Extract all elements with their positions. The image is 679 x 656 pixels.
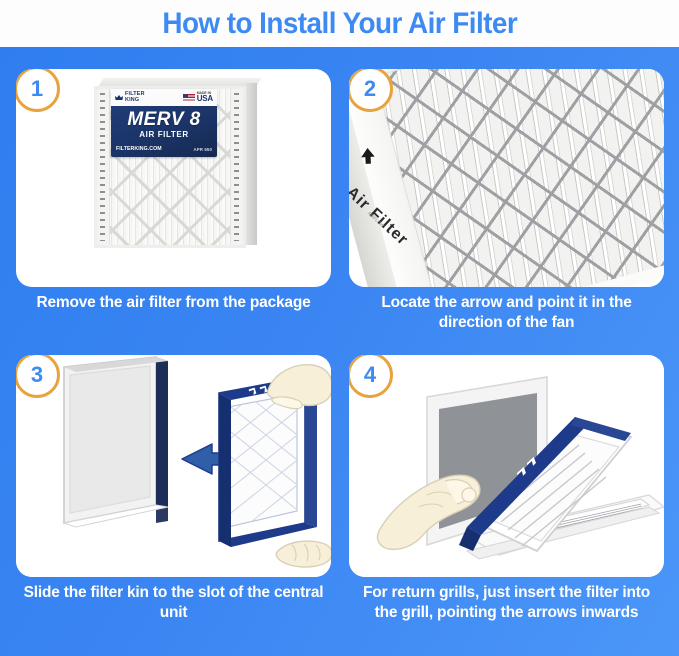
header-bar: How to Install Your Air Filter (0, 0, 679, 47)
hand-lower (276, 541, 331, 567)
product-type: AIR FILTER (111, 130, 217, 139)
made-in-usa-badge: MADE IN USA (183, 92, 213, 103)
brand-name: FILTER KING (125, 92, 145, 103)
slide-diagram (16, 355, 331, 577)
hand-upper (267, 365, 331, 409)
step-2-image-card: Air Filter AIRFLOW 2 (349, 69, 664, 287)
step-4-image-card: 4 (349, 355, 664, 577)
airflow-arrow-icon (358, 147, 377, 166)
apr-text: APR 650 (193, 147, 212, 152)
step-card-3: 3 Slide the filter kin to the slot of th… (16, 355, 331, 651)
page-title: How to Install Your Air Filter (162, 7, 517, 41)
central-unit (64, 357, 168, 527)
step-caption-4: For return grills, just insert the filte… (349, 583, 664, 624)
step-card-1: FILTER KING MADE IN USA (16, 69, 331, 359)
merv8-filter-photo: FILTER KING MADE IN USA (16, 69, 331, 287)
crown-icon (115, 94, 123, 102)
merv-rating: MERV 8 (111, 110, 217, 129)
return-grill-diagram (349, 355, 664, 577)
step-caption-3: Slide the filter kin to the slot of the … (16, 583, 331, 624)
slide-filter-into-slot-illustration (16, 355, 331, 577)
filter-product-label: FILTER KING MADE IN USA (111, 89, 217, 157)
step-card-2: Air Filter AIRFLOW 2 Locate the arrow an… (349, 69, 664, 359)
filter-corner-arrow-photo: Air Filter AIRFLOW (349, 69, 664, 287)
step-card-4: 4 For return grills, just insert the fil… (349, 355, 664, 651)
step-caption-2: Locate the arrow and point it in the dir… (349, 293, 664, 334)
label-footer-strip: FILTERKING.COM APR 650 (116, 146, 212, 152)
brand-line-2: KING (125, 97, 139, 103)
label-header-strip: FILTER KING MADE IN USA (111, 89, 217, 106)
steps-grid: FILTER KING MADE IN USA (0, 47, 679, 656)
filter-right-rail (230, 89, 243, 245)
infographic-page: How to Install Your Air Filter (0, 0, 679, 656)
step-1-image-card: FILTER KING MADE IN USA (16, 69, 331, 287)
website-text: FILTERKING.COM (116, 146, 162, 152)
step-3-image-card: 3 (16, 355, 331, 577)
country-text: USA (197, 95, 213, 103)
filter-left-rail (97, 89, 110, 245)
step-caption-1: Remove the air filter from the package (16, 293, 331, 313)
usa-flag-icon (183, 94, 195, 102)
insert-filter-into-return-grill-illustration (349, 355, 664, 577)
filter-king-logo: FILTER KING (115, 92, 145, 103)
